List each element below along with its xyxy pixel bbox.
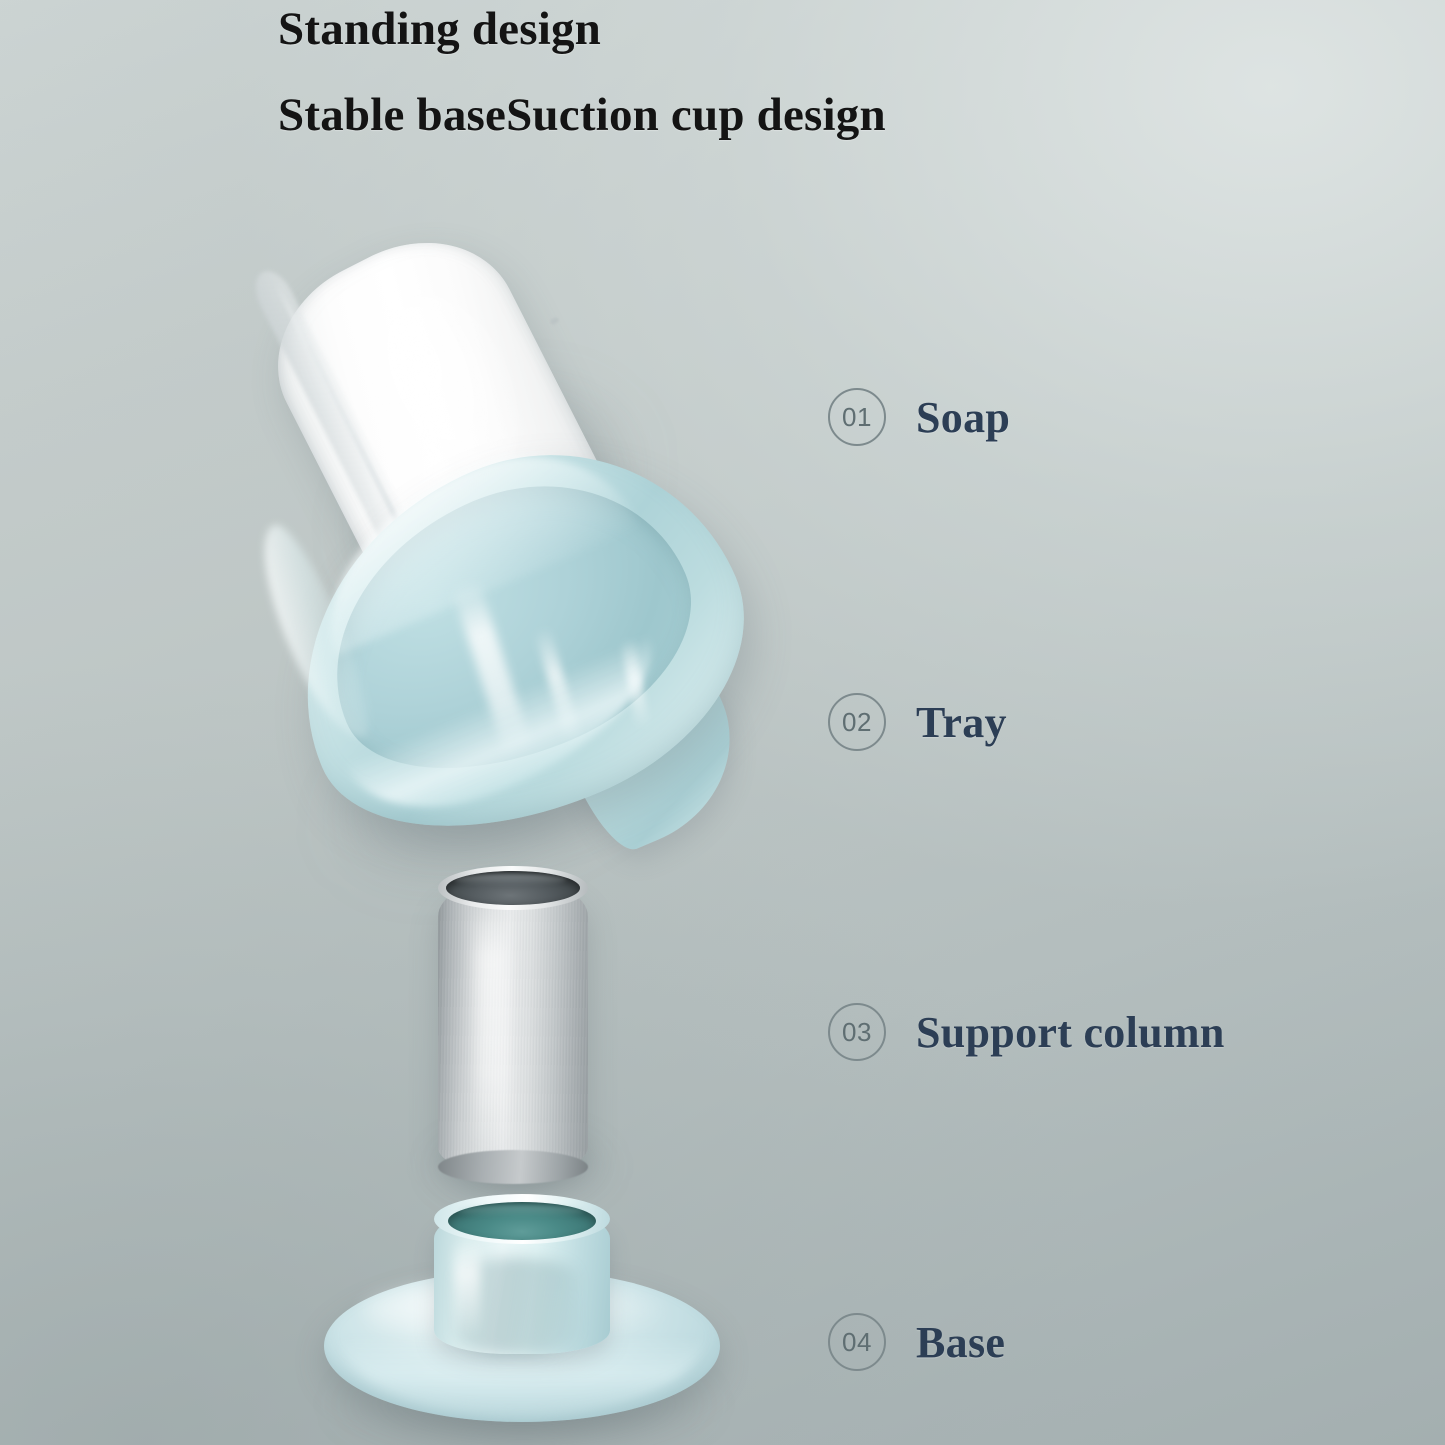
column-brushed-grain: [438, 878, 588, 1174]
callout-soap: 01 Soap: [828, 388, 1010, 446]
callout-label-tray: Tray: [916, 697, 1007, 748]
column-bottom-edge: [438, 1150, 588, 1184]
callout-label-support-column: Support column: [916, 1007, 1225, 1058]
soap-bar-surface-speck: [549, 316, 560, 325]
callout-label-soap: Soap: [916, 392, 1010, 443]
callout-tray: 02 Tray: [828, 693, 1007, 751]
callout-number-badge-04: 04: [828, 1313, 886, 1371]
exploded-view-illustration: [0, 0, 1445, 1445]
base-socket-bore-highlight: [458, 1205, 584, 1217]
base-socket-highlight: [454, 1238, 480, 1338]
column-highlight: [474, 902, 508, 1152]
support-column-image: [424, 862, 624, 1192]
callout-number-badge-02: 02: [828, 693, 886, 751]
callout-base: 04 Base: [828, 1313, 1005, 1371]
product-infographic: Standing design Stable baseSuction cup d…: [0, 0, 1445, 1445]
callout-label-base: Base: [916, 1317, 1005, 1368]
callout-number-badge-01: 01: [828, 388, 886, 446]
column-bore-highlight: [454, 874, 566, 885]
base-image: [316, 1192, 728, 1442]
callout-support-column: 03 Support column: [828, 1003, 1225, 1061]
tray-image: [278, 458, 778, 878]
callout-number-badge-03: 03: [828, 1003, 886, 1061]
